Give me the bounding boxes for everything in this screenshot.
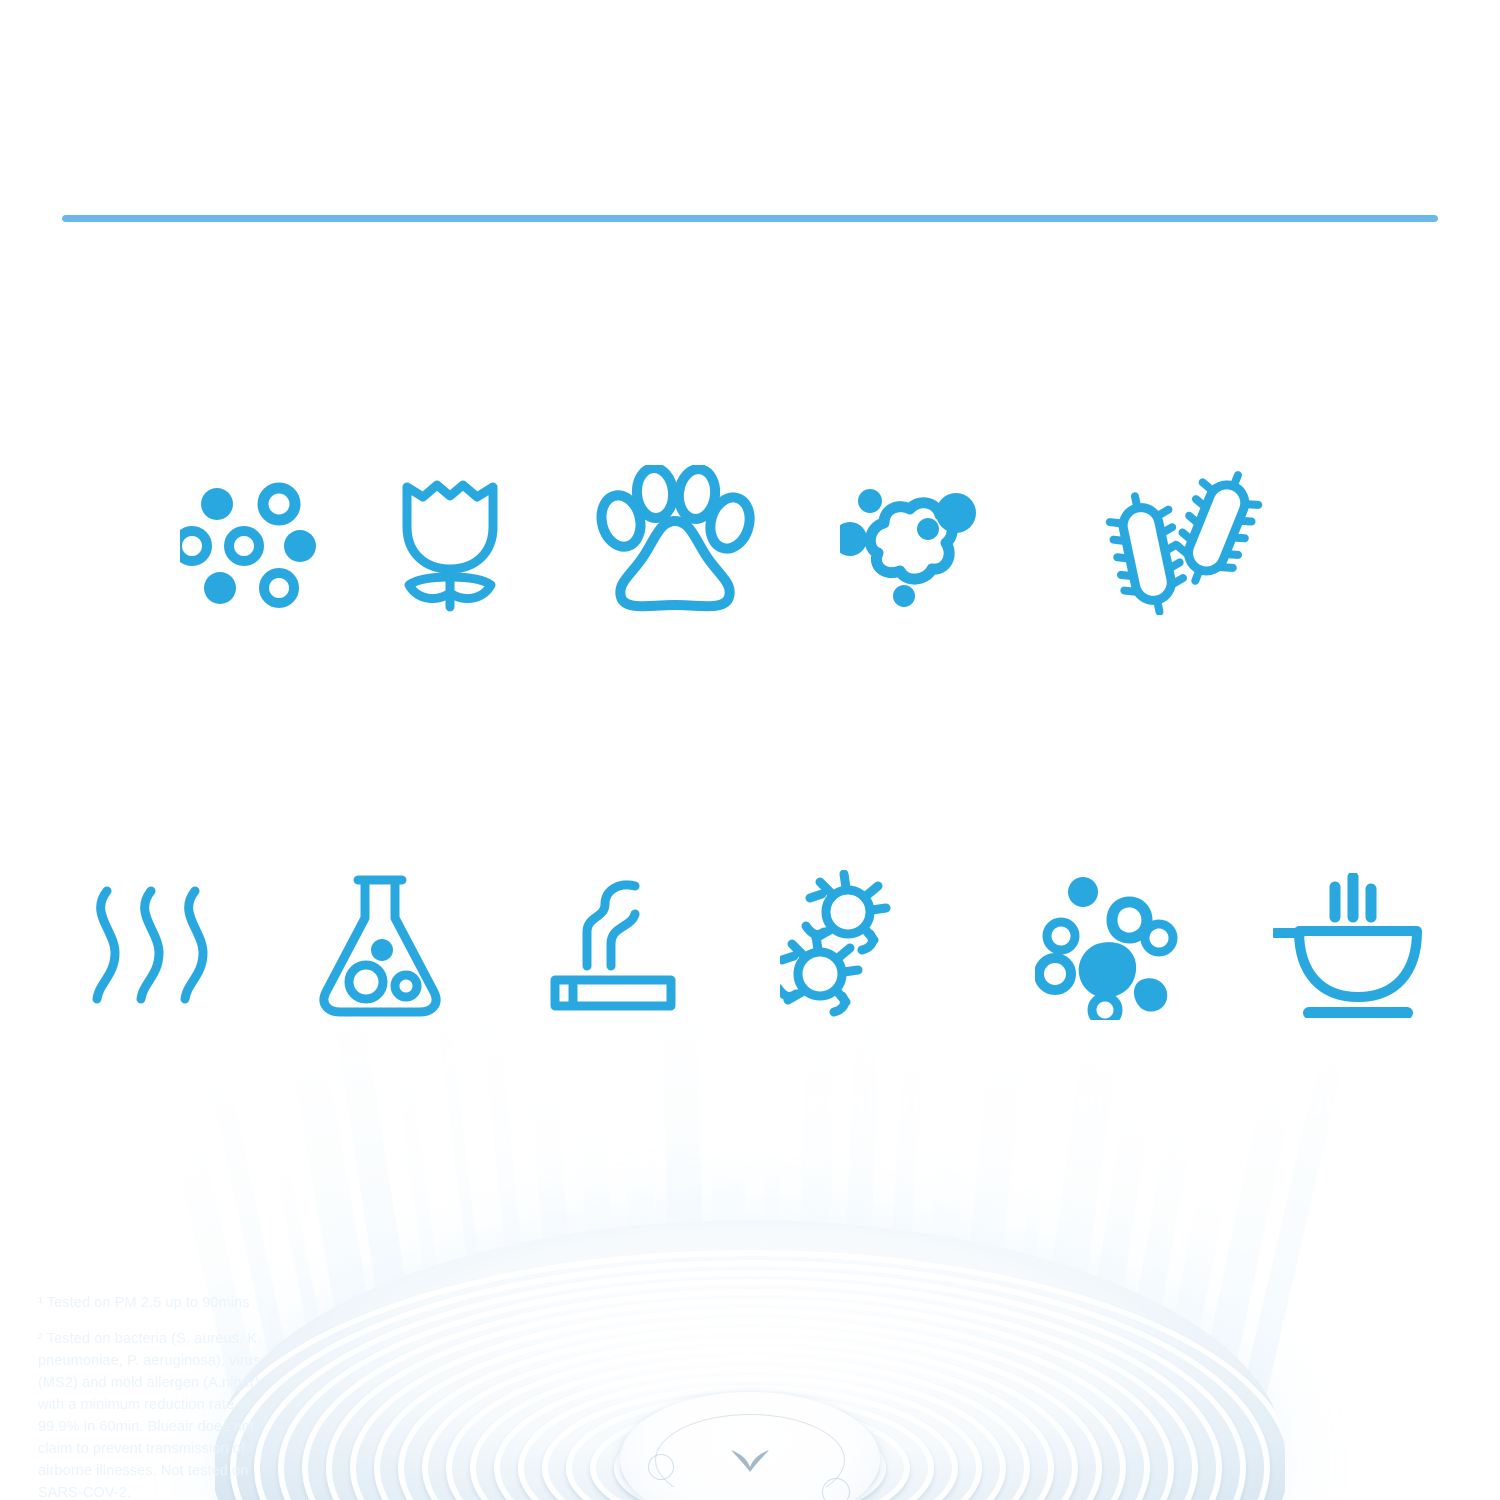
smoke-cigarette-icon bbox=[543, 860, 683, 1030]
feature-dust-mite: Dust mite matter allergen bbox=[720, 860, 990, 1124]
pet-dander-paw-icon bbox=[595, 455, 755, 625]
headline-emphasis: 99.97% bbox=[960, 49, 1277, 158]
feature-voc: VOC bbox=[45, 860, 255, 1124]
feature-dust: Dust bbox=[800, 455, 1040, 719]
feature-label: Mold allergen2 bbox=[1043, 1038, 1178, 1124]
dust-blob-icon bbox=[840, 455, 1000, 625]
brand-logo-icon bbox=[729, 1447, 771, 1473]
feature-bacteria-viruses: Bacteria & Viruses2 bbox=[1040, 455, 1320, 719]
divider-rule bbox=[62, 215, 1438, 222]
subheadline-emphasis: airborne particles bbox=[586, 277, 1089, 345]
feature-label: Cooking odors bbox=[1284, 1038, 1411, 1124]
feature-label: Pet dander allergen bbox=[590, 633, 759, 719]
feature-pet-dander: Pet dander allergen bbox=[550, 455, 800, 719]
feature-label: Pollen bbox=[402, 633, 498, 676]
page-title: Removes at least 99.97%1 bbox=[0, 52, 1500, 157]
headline-lead: Removes at least bbox=[201, 49, 960, 158]
feature-label: Chemicals bbox=[299, 1038, 461, 1081]
gases-row: VOC Chemicals bbox=[45, 860, 1465, 1124]
feature-label: Smoke bbox=[559, 1038, 667, 1081]
pm25-particles-icon bbox=[180, 455, 320, 625]
feature-label: PM 2.5 bbox=[195, 633, 305, 676]
headline-superscript: 1 bbox=[1277, 67, 1299, 113]
feature-smoke: Smoke bbox=[505, 860, 720, 1124]
feature-mold: Mold allergen2 bbox=[990, 860, 1230, 1124]
panel-button-right[interactable] bbox=[822, 1478, 850, 1500]
chemicals-flask-icon bbox=[310, 860, 450, 1030]
feature-cooking-odors: Cooking odors bbox=[1230, 860, 1465, 1124]
particles-row: PM 2.5 Pollen bbox=[150, 455, 1380, 719]
footnote-1: ¹ Tested on PM 2.5 up to 90mins bbox=[38, 1292, 270, 1314]
feature-label: Bacteria & Viruses2 bbox=[1100, 633, 1259, 719]
footnote-2: ² Tested on bacteria (S. aureus, K. pneu… bbox=[38, 1328, 270, 1500]
footnotes: ¹ Tested on PM 2.5 up to 90mins ² Tested… bbox=[38, 1292, 270, 1500]
dust-mite-icon bbox=[780, 860, 930, 1030]
feature-label: VOC bbox=[112, 1038, 187, 1081]
feature-label: Dust mite matter allergen bbox=[740, 1038, 970, 1124]
feature-pollen: Pollen bbox=[350, 455, 550, 719]
mold-allergen-icon bbox=[1035, 860, 1185, 1030]
page-subtitle: of tiny airborne particles bbox=[0, 278, 1500, 345]
panel-button-left[interactable] bbox=[648, 1454, 674, 1480]
subheadline-lead: of tiny bbox=[411, 277, 587, 345]
feature-chemicals: Chemicals bbox=[255, 860, 505, 1124]
feature-label: Dust bbox=[884, 633, 955, 676]
bacteria-viruses-icon bbox=[1095, 455, 1265, 625]
cooking-odors-pan-icon bbox=[1273, 860, 1423, 1030]
air-purifier-top bbox=[215, 1220, 1285, 1500]
pollen-flower-icon bbox=[385, 455, 515, 625]
voc-waves-icon bbox=[85, 860, 215, 1030]
feature-pm25: PM 2.5 bbox=[150, 455, 350, 719]
infographic-canvas: Removes at least 99.97%1 of tiny airborn… bbox=[0, 0, 1500, 1500]
